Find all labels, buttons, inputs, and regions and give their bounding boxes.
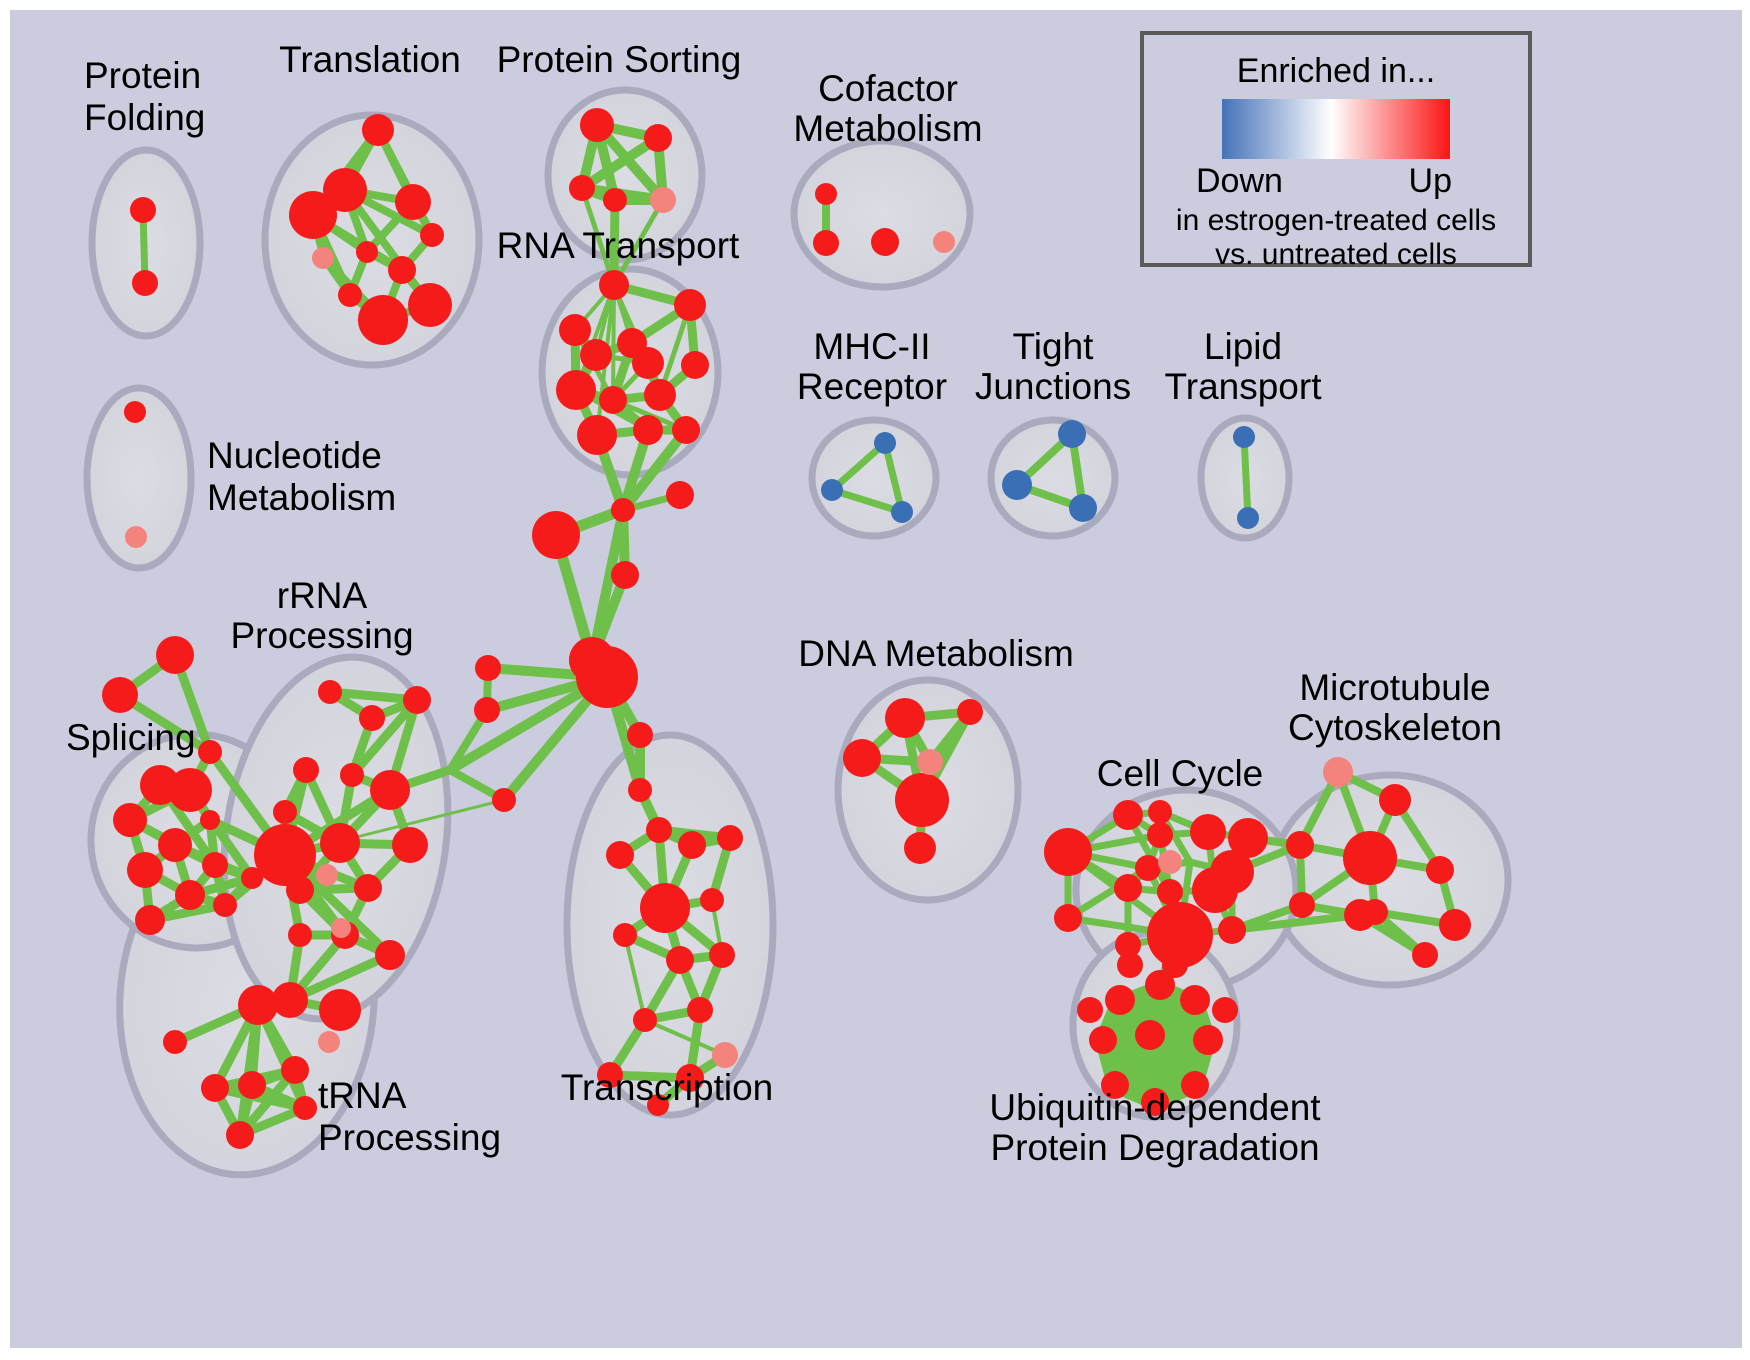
node	[606, 841, 634, 869]
node	[632, 347, 664, 379]
node	[1135, 855, 1161, 881]
node	[1218, 916, 1246, 944]
node	[1135, 1020, 1165, 1050]
node	[640, 883, 690, 933]
node	[532, 511, 580, 559]
node	[140, 765, 180, 805]
node	[293, 1096, 317, 1120]
node-mid	[312, 247, 334, 269]
label-rna-transport: RNA Transport	[497, 225, 740, 266]
node	[202, 852, 228, 878]
node	[613, 923, 637, 947]
node-down	[821, 479, 843, 501]
node	[709, 942, 735, 968]
label-ubiquitin-degradation-line1: Ubiquitin-dependent	[989, 1087, 1321, 1128]
node	[646, 817, 672, 843]
label-lipid-transport-line2: Transport	[1165, 366, 1323, 407]
node	[254, 824, 316, 886]
node	[135, 905, 165, 935]
node	[603, 188, 627, 212]
node-mid	[125, 526, 147, 548]
node	[408, 283, 452, 327]
node	[577, 415, 617, 455]
node-down	[891, 501, 913, 523]
node	[1077, 997, 1103, 1023]
node	[200, 810, 220, 830]
node-mid	[650, 187, 676, 213]
node-down	[1233, 426, 1255, 448]
node-down	[1237, 507, 1259, 529]
node-mid	[331, 918, 351, 938]
node	[580, 339, 612, 371]
node	[611, 498, 635, 522]
node	[904, 832, 936, 864]
node	[674, 289, 706, 321]
label-microtubule-cytoskeleton-line1: Microtubule	[1299, 667, 1490, 708]
legend-subtitle-line2: vs. untreated cells	[1215, 238, 1457, 271]
node	[885, 698, 925, 738]
node-mid	[933, 231, 955, 253]
node	[201, 1074, 229, 1102]
label-trna-processing-line1: tRNA	[318, 1075, 407, 1116]
node	[1190, 814, 1226, 850]
node	[871, 228, 899, 256]
node	[633, 1008, 657, 1032]
label-protein-sorting: Protein Sorting	[497, 39, 742, 80]
node	[475, 655, 501, 681]
node-mid	[1158, 850, 1182, 874]
label-nucleotide-metabolism-line2: Metabolism	[207, 477, 396, 518]
node	[492, 788, 516, 812]
node	[362, 114, 394, 146]
node	[474, 697, 500, 723]
node-down	[1069, 494, 1097, 522]
node	[156, 636, 194, 674]
label-ubiquitin-degradation-line2: Protein Degradation	[990, 1127, 1319, 1168]
label-tight-junctions-line2: Junctions	[975, 366, 1131, 407]
node	[599, 386, 627, 414]
node-mid	[318, 1031, 340, 1053]
node	[281, 1056, 309, 1084]
label-transcription: Transcription	[561, 1067, 773, 1108]
node	[1114, 874, 1142, 902]
label-microtubule-cytoskeleton-line2: Cytoskeleton	[1288, 707, 1502, 748]
node	[576, 646, 638, 708]
node	[569, 175, 595, 201]
node	[273, 800, 297, 824]
label-lipid-transport-line1: Lipid	[1204, 326, 1282, 367]
node	[633, 415, 663, 445]
node	[359, 705, 385, 731]
node	[556, 370, 596, 410]
node	[1180, 985, 1210, 1015]
node	[1212, 997, 1238, 1023]
node	[672, 416, 700, 444]
node	[895, 773, 949, 827]
node	[288, 923, 312, 947]
node	[320, 823, 360, 863]
node-mid	[917, 749, 943, 775]
label-mhc-ii-receptor-line2: Receptor	[797, 366, 947, 407]
label-translation: Translation	[279, 39, 461, 80]
label-rrna-processing-line2: Processing	[230, 615, 413, 656]
node	[1379, 784, 1411, 816]
node	[678, 831, 706, 859]
hull-mhc-ii-receptor	[812, 420, 936, 536]
node	[1193, 1025, 1223, 1055]
node-down	[874, 432, 896, 454]
node	[1412, 942, 1438, 968]
node	[1162, 952, 1188, 978]
node	[1192, 867, 1238, 913]
node	[158, 828, 192, 862]
node	[213, 893, 237, 917]
node	[395, 184, 431, 220]
node	[420, 223, 444, 247]
node	[627, 722, 653, 748]
node	[241, 867, 263, 889]
node	[238, 985, 278, 1025]
node	[815, 183, 837, 205]
node-mid	[1323, 757, 1353, 787]
node	[1089, 1026, 1117, 1054]
node	[403, 686, 431, 714]
node	[717, 825, 743, 851]
node	[1148, 800, 1172, 824]
node	[1439, 909, 1471, 941]
legend-up-label: Up	[1409, 162, 1452, 200]
node	[1105, 985, 1135, 1015]
node	[813, 230, 839, 256]
node	[1157, 879, 1183, 905]
legend-gradient-bar	[1222, 99, 1450, 159]
node	[687, 997, 713, 1023]
node	[340, 763, 364, 787]
node	[1117, 952, 1143, 978]
node	[127, 852, 163, 888]
node	[354, 874, 382, 902]
node	[559, 314, 591, 346]
enrichment-map-figure: Protein Folding Translation Protein Sort…	[0, 0, 1750, 1360]
node	[370, 770, 410, 810]
node	[1426, 856, 1454, 884]
node-down	[1058, 420, 1086, 448]
node	[238, 1071, 266, 1099]
node	[163, 1030, 187, 1054]
network-canvas: Protein Folding Translation Protein Sort…	[0, 0, 1750, 1360]
node	[580, 108, 614, 142]
node	[681, 351, 709, 379]
label-rrna-processing-line1: rRNA	[277, 575, 368, 616]
label-trna-processing-line2: Processing	[318, 1117, 501, 1158]
node	[1343, 831, 1397, 885]
label-nucleotide-metabolism-line1: Nucleotide	[207, 435, 382, 476]
node	[113, 803, 147, 837]
node	[1147, 822, 1173, 848]
node-down	[1002, 470, 1032, 500]
hull-cofactor-metabolism	[794, 141, 970, 287]
legend-subtitle-line1: in estrogen-treated cells	[1176, 204, 1496, 237]
node	[388, 256, 416, 284]
label-protein-folding-line1: Protein	[84, 55, 201, 96]
node	[628, 778, 652, 802]
node	[843, 739, 881, 777]
node	[319, 989, 361, 1031]
label-splicing: Splicing	[66, 717, 196, 758]
node	[644, 379, 676, 411]
node	[318, 680, 342, 704]
node	[611, 561, 639, 589]
node	[644, 124, 672, 152]
node	[666, 946, 694, 974]
node-mid	[316, 864, 338, 886]
node	[599, 270, 629, 300]
node	[175, 880, 205, 910]
node	[293, 757, 319, 783]
node	[102, 677, 138, 713]
node	[124, 401, 146, 423]
node	[700, 888, 724, 912]
label-dna-metabolism: DNA Metabolism	[798, 633, 1074, 674]
node	[358, 295, 408, 345]
label-mhc-ii-receptor-line1: MHC-II	[813, 326, 930, 367]
node	[375, 940, 405, 970]
node	[1054, 904, 1082, 932]
node	[1362, 899, 1388, 925]
node	[1286, 831, 1314, 859]
node	[1113, 800, 1143, 830]
node	[289, 191, 337, 239]
label-cell-cycle: Cell Cycle	[1097, 753, 1264, 794]
node	[1044, 828, 1092, 876]
node-mid	[712, 1042, 738, 1068]
node	[356, 241, 378, 263]
legend-panel: Enriched in... Down Up in estrogen-treat…	[1142, 33, 1530, 271]
node	[130, 197, 156, 223]
label-protein-folding-line2: Folding	[84, 97, 205, 138]
node	[1289, 892, 1315, 918]
label-tight-junctions-line1: Tight	[1013, 326, 1095, 367]
legend-down-label: Down	[1196, 162, 1283, 200]
node	[132, 270, 158, 296]
node	[198, 740, 222, 764]
node	[957, 699, 983, 725]
label-cofactor-metabolism-line1: Cofactor	[818, 68, 958, 109]
legend-title: Enriched in...	[1237, 52, 1435, 90]
label-cofactor-metabolism-line2: Metabolism	[793, 108, 982, 149]
node	[392, 827, 428, 863]
node	[226, 1121, 254, 1149]
node	[666, 481, 694, 509]
node	[338, 283, 362, 307]
node	[272, 982, 308, 1018]
